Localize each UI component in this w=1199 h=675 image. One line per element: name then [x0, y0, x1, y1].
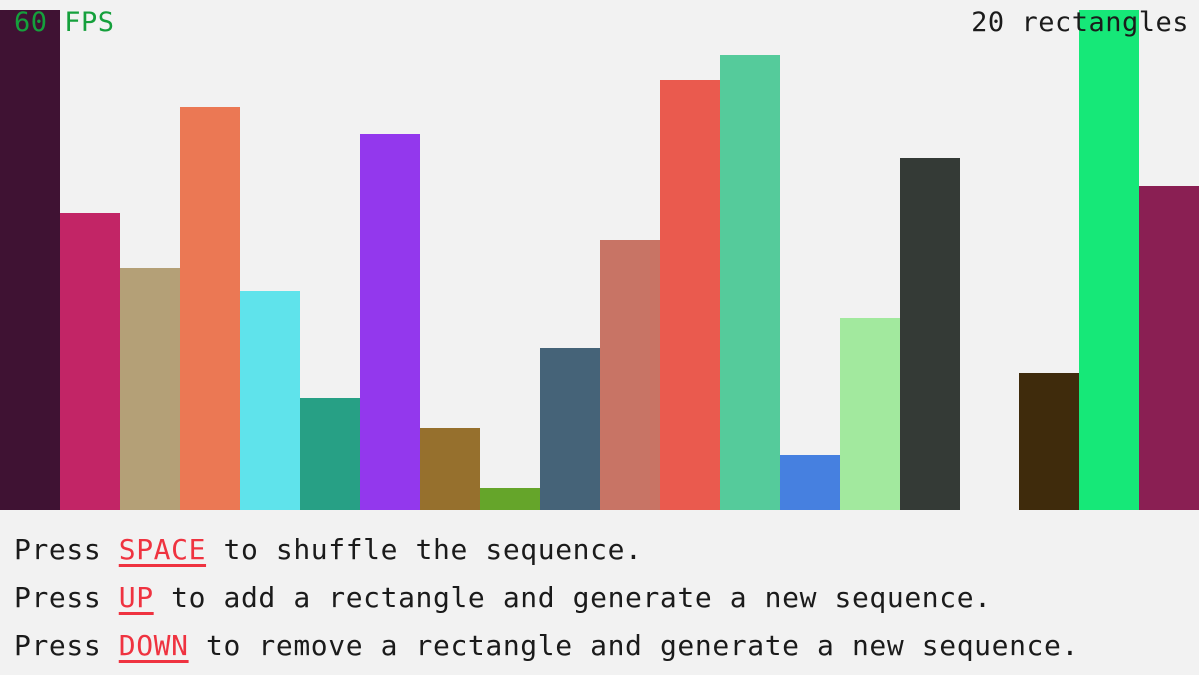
instruction-prefix: Press — [14, 533, 119, 566]
fps-counter: 60 FPS — [14, 8, 115, 38]
bar-14-pale-green — [840, 318, 900, 510]
key-up[interactable]: UP — [119, 581, 154, 614]
key-space[interactable]: SPACE — [119, 533, 206, 566]
bar-3-coral-orange — [180, 107, 240, 510]
bar-0-dark-plum — [0, 10, 60, 510]
rectangle-count-label: 20 rectangles — [971, 8, 1189, 38]
instruction-suffix: to add a rectangle and generate a new se… — [154, 581, 992, 614]
instruction-line-0: Press SPACE to shuffle the sequence. — [14, 526, 1199, 574]
instruction-prefix: Press — [14, 629, 119, 662]
bar-18-maroon — [1139, 186, 1199, 510]
bar-17-spring-green — [1079, 10, 1139, 510]
bar-9-slate-blue — [540, 348, 600, 510]
instructions-panel: Press SPACE to shuffle the sequence.Pres… — [0, 510, 1199, 675]
bar-1-crimson-pink — [60, 213, 120, 510]
instruction-line-2: Press DOWN to remove a rectangle and gen… — [14, 622, 1199, 670]
bar-16-dark-brown — [1019, 373, 1079, 510]
bar-11-tomato-red — [660, 80, 720, 510]
instruction-line-1: Press UP to add a rectangle and generate… — [14, 574, 1199, 622]
bar-7-brown-ochre — [420, 428, 480, 510]
bar-6-violet — [360, 134, 420, 510]
rectangle-chart — [0, 0, 1199, 510]
bar-10-salmon — [600, 240, 660, 510]
bar-8-olive-green — [480, 488, 540, 510]
bar-4-cyan — [240, 291, 300, 510]
instruction-prefix: Press — [14, 581, 119, 614]
bar-12-mint-green — [720, 55, 780, 510]
instruction-suffix: to shuffle the sequence. — [206, 533, 642, 566]
app-root: 60 FPS 20 rectangles Press SPACE to shuf… — [0, 0, 1199, 675]
instruction-suffix: to remove a rectangle and generate a new… — [189, 629, 1079, 662]
bar-13-royal-blue — [780, 455, 840, 510]
bar-2-tan — [120, 268, 180, 510]
bar-15-charcoal — [900, 158, 960, 510]
key-down[interactable]: DOWN — [119, 629, 189, 662]
bar-5-teal — [300, 398, 360, 510]
